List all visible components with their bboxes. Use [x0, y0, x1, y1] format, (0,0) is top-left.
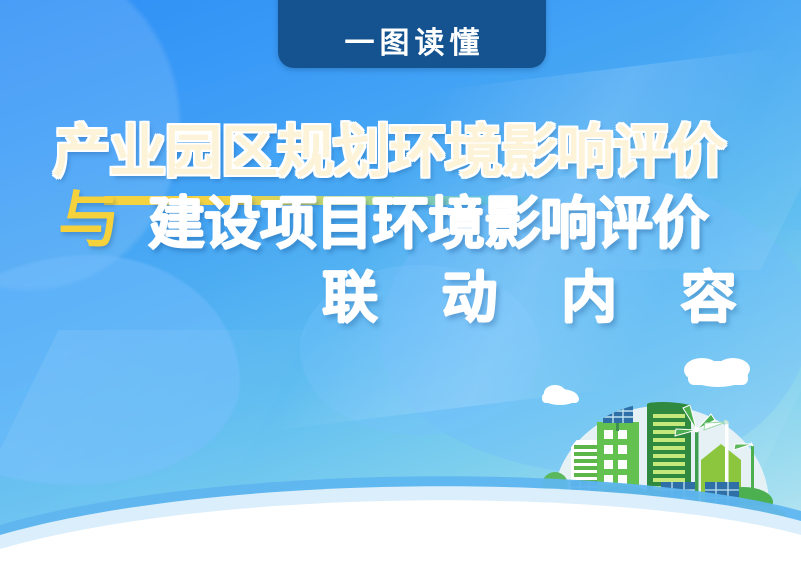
title-conjunction: 与: [58, 190, 120, 252]
ribbon-banner: 一图读懂: [278, 0, 546, 68]
infographic-poster: 一图读懂 产业园区规划环境影响评价 与 建设项目环境影响评价 联 动 内 容: [0, 0, 801, 561]
ribbon-label: 一图读懂: [340, 29, 485, 59]
title-line-1: 产业园区规划环境影响评价: [53, 124, 801, 181]
title-line-3: 联 动 内 容: [322, 270, 801, 326]
title-block: 产业园区规划环境影响评价 与 建设项目环境影响评价 联 动 内 容: [0, 124, 801, 326]
bottom-wave: [0, 431, 801, 561]
title-line-2-row: 与 建设项目环境影响评价: [0, 190, 801, 258]
title-line-2: 建设项目环境影响评价: [148, 196, 708, 253]
